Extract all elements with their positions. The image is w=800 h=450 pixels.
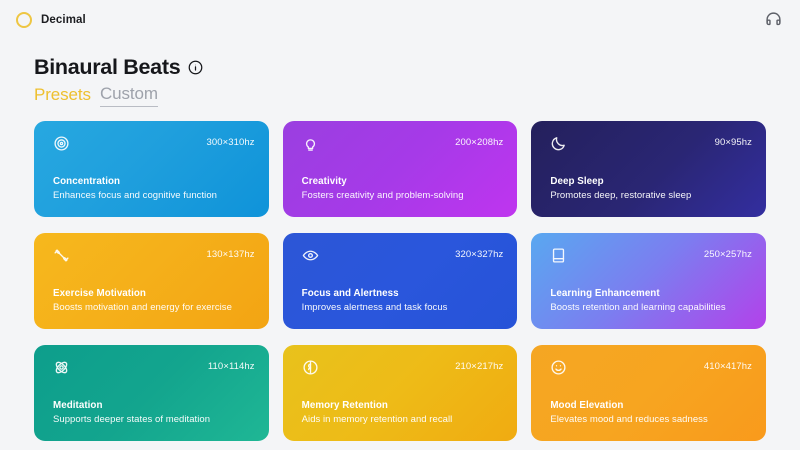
lightbulb-icon bbox=[302, 135, 319, 152]
atom-icon bbox=[53, 359, 70, 376]
preset-card-deep-sleep[interactable]: 90×95hz Deep Sleep Promotes deep, restor… bbox=[531, 121, 766, 217]
card-frequency: 320×327hz bbox=[455, 247, 503, 260]
preset-card-mood-elevation[interactable]: 410×417hz Mood Elevation Elevates mood a… bbox=[531, 345, 766, 441]
card-title: Focus and Alertness bbox=[302, 288, 448, 299]
tab-presets[interactable]: Presets bbox=[34, 86, 91, 107]
card-top-row: 90×95hz bbox=[550, 135, 752, 152]
preset-card-concentration[interactable]: 300×310hz Concentration Enhances focus a… bbox=[34, 121, 269, 217]
card-body: Learning Enhancement Boosts retention an… bbox=[550, 288, 725, 313]
card-body: Memory Retention Aids in memory retentio… bbox=[302, 400, 453, 425]
card-description: Improves alertness and task focus bbox=[302, 302, 448, 313]
brain-icon bbox=[302, 359, 319, 376]
brand[interactable]: Decimal bbox=[16, 12, 86, 28]
card-title: Exercise Motivation bbox=[53, 288, 232, 299]
card-body: Deep Sleep Promotes deep, restorative sl… bbox=[550, 176, 691, 201]
card-description: Fosters creativity and problem-solving bbox=[302, 190, 464, 201]
card-description: Boosts retention and learning capabiliti… bbox=[550, 302, 725, 313]
card-title: Meditation bbox=[53, 400, 210, 411]
card-body: Meditation Supports deeper states of med… bbox=[53, 400, 210, 425]
tab-custom[interactable]: Custom bbox=[100, 85, 158, 107]
card-top-row: 130×137hz bbox=[53, 247, 255, 264]
card-top-row: 320×327hz bbox=[302, 247, 504, 264]
preset-card-learning-enhancement[interactable]: 250×257hz Learning Enhancement Boosts re… bbox=[531, 233, 766, 329]
card-frequency: 300×310hz bbox=[206, 135, 254, 148]
card-frequency: 130×137hz bbox=[206, 247, 254, 260]
card-body: Focus and Alertness Improves alertness a… bbox=[302, 288, 448, 313]
card-description: Promotes deep, restorative sleep bbox=[550, 190, 691, 201]
card-body: Exercise Motivation Boosts motivation an… bbox=[53, 288, 232, 313]
page-title: Binaural Beats bbox=[34, 55, 180, 80]
card-top-row: 110×114hz bbox=[53, 359, 255, 376]
card-body: Mood Elevation Elevates mood and reduces… bbox=[550, 400, 707, 425]
card-frequency: 110×114hz bbox=[208, 359, 255, 372]
preset-card-creativity[interactable]: 200×208hz Creativity Fosters creativity … bbox=[283, 121, 518, 217]
card-frequency: 200×208hz bbox=[455, 135, 503, 148]
card-title: Concentration bbox=[53, 176, 217, 187]
card-body: Creativity Fosters creativity and proble… bbox=[302, 176, 464, 201]
card-body: Concentration Enhances focus and cogniti… bbox=[53, 176, 217, 201]
title-row: Binaural Beats bbox=[34, 55, 800, 80]
card-title: Learning Enhancement bbox=[550, 288, 725, 299]
headphones-icon[interactable] bbox=[765, 11, 782, 28]
card-top-row: 410×417hz bbox=[550, 359, 752, 376]
card-title: Mood Elevation bbox=[550, 400, 707, 411]
card-title: Memory Retention bbox=[302, 400, 453, 411]
preset-card-meditation[interactable]: 110×114hz Meditation Supports deeper sta… bbox=[34, 345, 269, 441]
card-description: Aids in memory retention and recall bbox=[302, 414, 453, 425]
smiley-icon bbox=[550, 359, 567, 376]
card-top-row: 200×208hz bbox=[302, 135, 504, 152]
preset-card-focus-and-alertness[interactable]: 320×327hz Focus and Alertness Improves a… bbox=[283, 233, 518, 329]
top-bar: Decimal bbox=[0, 0, 800, 39]
page-header: Binaural Beats Presets Custom bbox=[0, 39, 800, 107]
card-description: Elevates mood and reduces sadness bbox=[550, 414, 707, 425]
card-description: Enhances focus and cognitive function bbox=[53, 190, 217, 201]
preset-card-grid: 300×310hz Concentration Enhances focus a… bbox=[34, 121, 766, 441]
card-frequency: 90×95hz bbox=[715, 135, 752, 148]
book-icon bbox=[550, 247, 567, 264]
tab-bar: Presets Custom bbox=[34, 85, 800, 107]
brand-logo-icon bbox=[16, 12, 32, 28]
preset-card-memory-retention[interactable]: 210×217hz Memory Retention Aids in memor… bbox=[283, 345, 518, 441]
target-icon bbox=[53, 135, 70, 152]
dumbbell-icon bbox=[53, 247, 70, 264]
card-frequency: 210×217hz bbox=[455, 359, 503, 372]
moon-icon bbox=[550, 135, 567, 152]
card-description: Supports deeper states of meditation bbox=[53, 414, 210, 425]
card-top-row: 300×310hz bbox=[53, 135, 255, 152]
info-circle-icon[interactable] bbox=[188, 60, 203, 75]
card-title: Creativity bbox=[302, 176, 464, 187]
card-frequency: 410×417hz bbox=[704, 359, 752, 372]
card-top-row: 210×217hz bbox=[302, 359, 504, 376]
eye-icon bbox=[302, 247, 319, 264]
card-description: Boosts motivation and energy for exercis… bbox=[53, 302, 232, 313]
card-frequency: 250×257hz bbox=[704, 247, 752, 260]
card-title: Deep Sleep bbox=[550, 176, 691, 187]
brand-name: Decimal bbox=[41, 14, 86, 26]
preset-card-exercise-motivation[interactable]: 130×137hz Exercise Motivation Boosts mot… bbox=[34, 233, 269, 329]
card-top-row: 250×257hz bbox=[550, 247, 752, 264]
